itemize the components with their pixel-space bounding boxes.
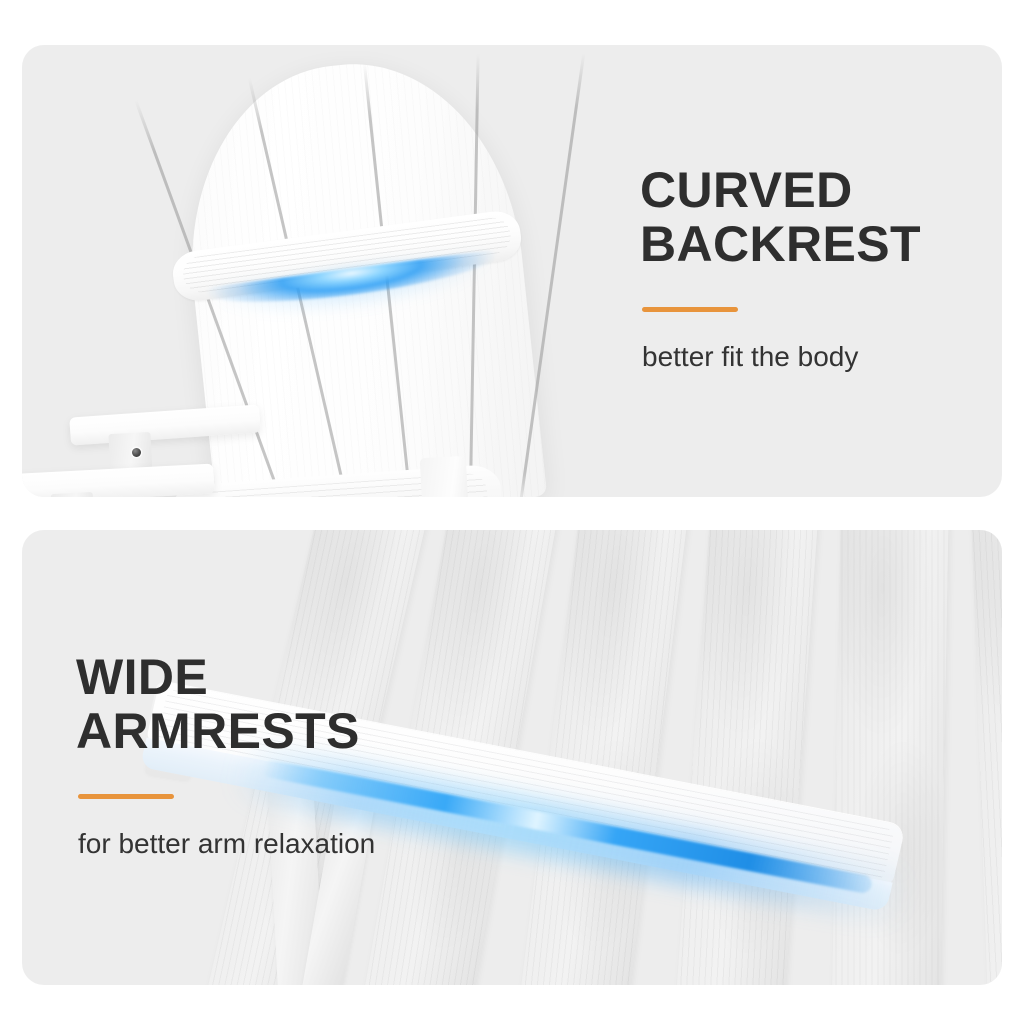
chair-armrest-lower: [22, 464, 215, 497]
slat-wood-grain: [968, 530, 1002, 985]
page-title-line2: BACKREST: [640, 217, 921, 271]
accent-divider: [78, 794, 174, 799]
page-title-line2: ARMRESTS: [76, 704, 375, 758]
feature-panel-curved-backrest: CURVED BACKREST better fit the body: [22, 45, 1002, 497]
back-slat: [666, 530, 824, 985]
accent-divider: [642, 307, 738, 312]
backrest-slat-seam: [518, 53, 585, 497]
chair-rear-post: [420, 456, 471, 497]
page-title: WIDE: [76, 650, 375, 704]
feature-subtitle: for better arm relaxation: [78, 827, 375, 861]
feature-subtitle: better fit the body: [642, 340, 921, 374]
screw-icon: [132, 448, 141, 457]
feature-panel-wide-armrests: WIDE ARMRESTS for better arm relaxation: [22, 530, 1002, 985]
feature-copy-block: CURVED BACKREST better fit the body: [640, 163, 921, 374]
slat-wood-grain: [666, 530, 824, 985]
back-slat: [968, 530, 1002, 985]
feature-copy-block: WIDE ARMRESTS for better arm relaxation: [76, 650, 375, 861]
page-title: CURVED: [640, 163, 921, 217]
product-feature-page: CURVED BACKREST better fit the body: [0, 0, 1024, 1024]
